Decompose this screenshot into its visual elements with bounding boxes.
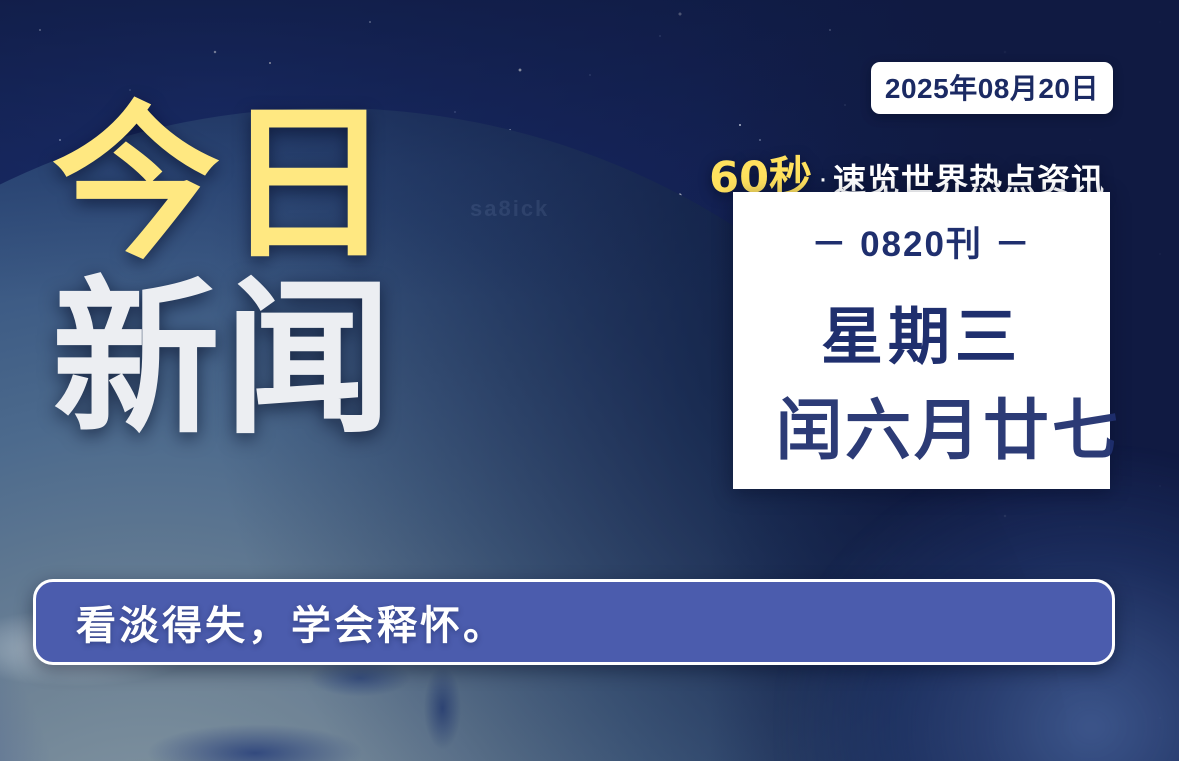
weekday-label: 星期三 [733,286,1110,376]
quote-text: 看淡得失，学会释怀。 [76,593,506,651]
watermark-text: sa8ick [470,196,549,222]
news-poster: sa8ick 今日 新闻 2025年08月20日 60秒·速览世界热点资讯 － … [0,0,1179,761]
poster-headline: 今日 新闻 [52,104,396,441]
date-badge: 2025年08月20日 [871,62,1113,114]
quote-bar: 看淡得失，学会释怀。 [33,579,1115,665]
info-card: － 0820刊 － 星期三 [733,192,1110,489]
issue-number: － 0820刊 － [733,216,1110,267]
headline-line-1: 今日 [52,104,396,265]
tagline-separator-dot: · [818,162,828,195]
headline-line-2: 新闻 [52,279,396,440]
